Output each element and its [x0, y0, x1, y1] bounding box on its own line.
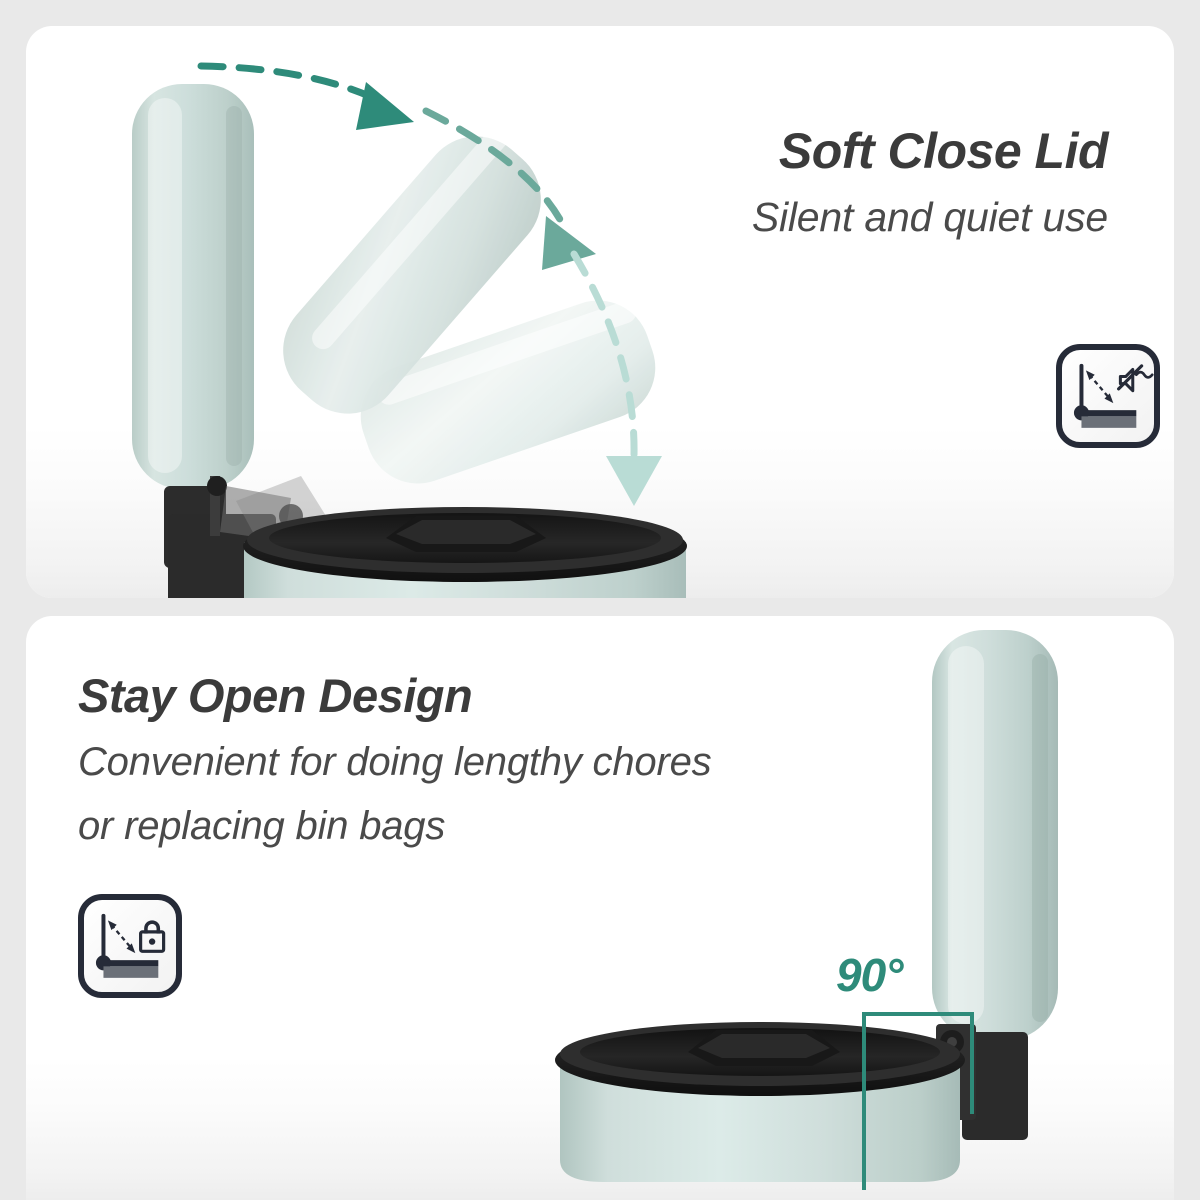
subline-soft-close: Silent and quiet use	[752, 188, 1108, 246]
subline-stay-open-line2: or replacing bin bags	[78, 800, 711, 852]
lid-ghost-position-2	[261, 114, 563, 436]
lid-motion-arrow-3	[574, 254, 662, 506]
product-illustration-soft-close	[86, 46, 726, 598]
lid-position-1-upright	[132, 84, 254, 489]
bin-body	[244, 542, 686, 598]
mute-speaker-glyph	[1119, 366, 1153, 391]
infographic-page: Soft Close Lid Silent and quiet use	[0, 0, 1200, 1200]
floor-gradient	[26, 426, 1174, 598]
angle-label-90-degrees: 90°	[836, 948, 903, 1002]
subline-stay-open-line1: Convenient for doing lengthy chores	[78, 736, 711, 788]
text-block-soft-close: Soft Close Lid Silent and quiet use	[752, 122, 1108, 246]
soft-close-mute-icon	[1062, 350, 1154, 442]
lid-motion-arrows	[26, 26, 1174, 598]
lid-motion-arrow-2	[426, 111, 596, 270]
stay-open-lock-icon	[84, 900, 176, 992]
padlock-glyph	[141, 920, 164, 951]
badge-stay-open	[78, 894, 182, 998]
floor-gradient	[26, 1060, 1174, 1200]
lid-ghost-position-3	[347, 286, 670, 497]
hinge-assembly	[164, 476, 326, 598]
text-block-stay-open: Stay Open Design Convenient for doing le…	[78, 668, 711, 852]
bin-rim	[243, 507, 687, 582]
panel-soft-close-lid: Soft Close Lid Silent and quiet use	[26, 26, 1174, 598]
headline-soft-close: Soft Close Lid	[752, 122, 1108, 180]
badge-soft-close	[1056, 344, 1160, 448]
lid-motion-arrow-1	[201, 66, 414, 130]
headline-stay-open: Stay Open Design	[78, 668, 711, 724]
